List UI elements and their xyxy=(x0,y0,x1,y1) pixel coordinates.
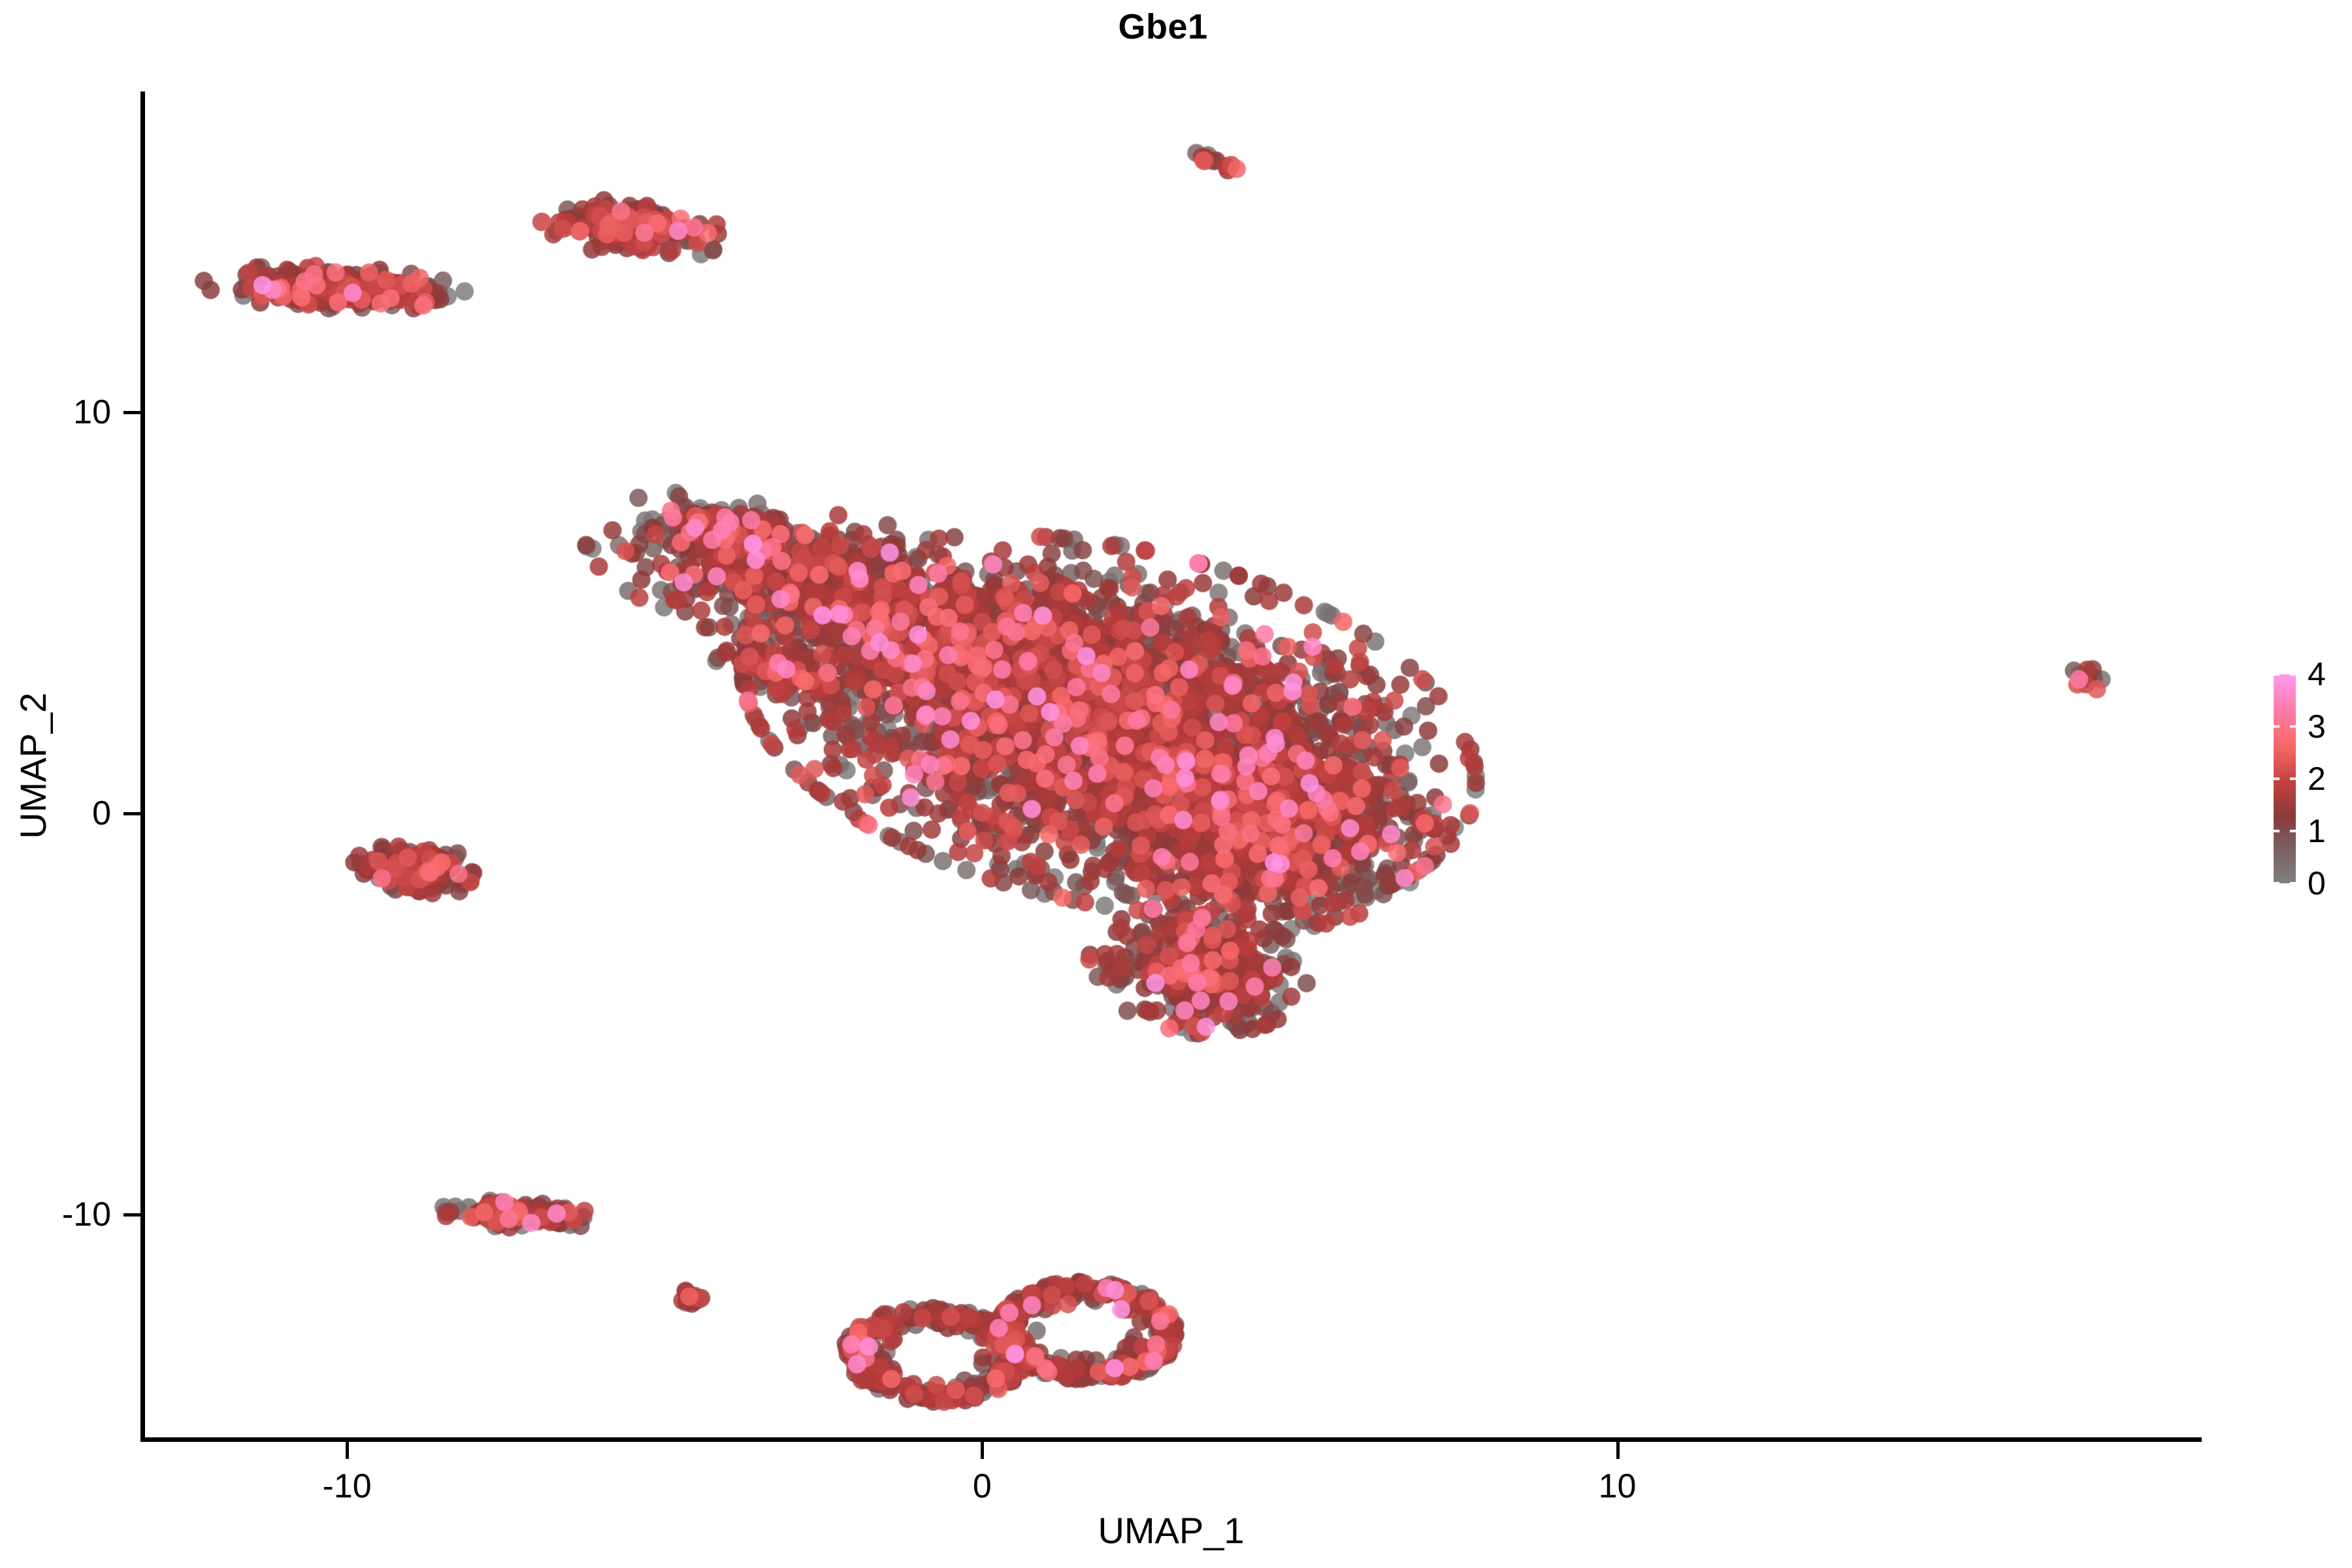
x-axis-line xyxy=(140,1437,2202,1442)
x-tick-0 xyxy=(346,1442,349,1459)
y-tick-label-2: 10 xyxy=(73,393,111,432)
y-tick-1 xyxy=(123,812,140,815)
colorbar-label-3: 3 xyxy=(2308,708,2326,745)
colorbar-tick-1 xyxy=(2274,830,2279,832)
y-tick-2 xyxy=(123,411,140,414)
colorbar-tick-2 xyxy=(2290,777,2296,780)
y-tick-label-1: 0 xyxy=(92,794,111,833)
colorbar-tick-4 xyxy=(2274,673,2279,676)
colorbar-tick-3 xyxy=(2290,725,2296,728)
y-tick-0 xyxy=(123,1213,140,1217)
y-tick-label-0: -10 xyxy=(62,1195,111,1234)
x-tick-label-0: -10 xyxy=(323,1467,372,1506)
umap-scatter-canvas xyxy=(144,91,2202,1439)
colorbar-label-2: 2 xyxy=(2308,760,2326,798)
y-axis-line xyxy=(140,91,145,1442)
colorbar-tick-4 xyxy=(2290,673,2296,676)
page-title: Gbe1 xyxy=(0,7,2339,47)
expression-colorbar-legend: 43210 xyxy=(2274,666,2352,889)
x-tick-1 xyxy=(981,1442,984,1459)
colorbar-label-4: 4 xyxy=(2308,655,2326,693)
colorbar-label-1: 1 xyxy=(2308,812,2326,850)
x-axis-label: UMAP_1 xyxy=(140,1509,2202,1552)
colorbar-tick-3 xyxy=(2274,725,2279,728)
colorbar-label-0: 0 xyxy=(2308,864,2326,902)
colorbar-tick-0 xyxy=(2290,882,2296,885)
colorbar-tick-0 xyxy=(2274,882,2279,885)
x-tick-label-1: 0 xyxy=(973,1467,992,1506)
x-tick-label-2: 10 xyxy=(1599,1467,1637,1506)
colorbar-tick-2 xyxy=(2274,777,2279,780)
colorbar-tick-1 xyxy=(2290,830,2296,832)
y-axis-label: UMAP_2 xyxy=(12,693,54,839)
x-tick-2 xyxy=(1616,1442,1620,1459)
